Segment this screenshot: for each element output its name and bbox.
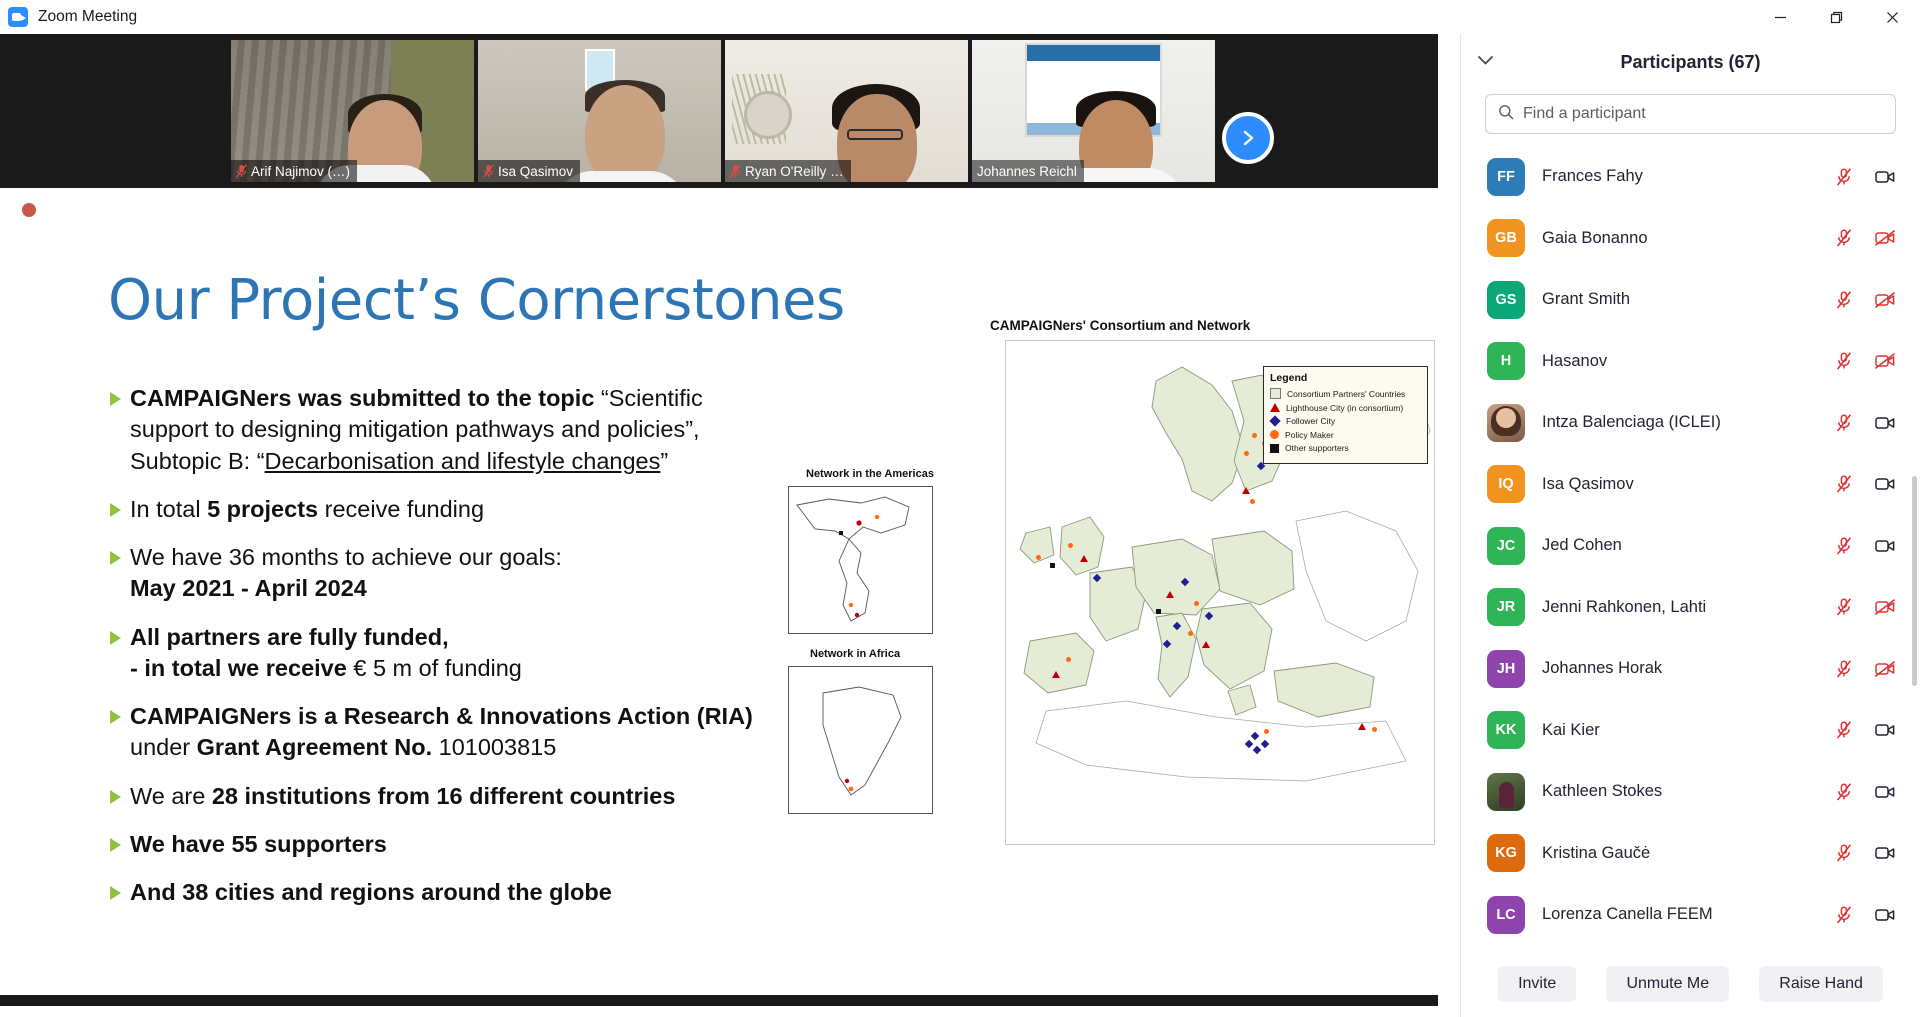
bullet-text: CAMPAIGNers is a Research & Innovations … [130,701,753,764]
list-item: In total 5 projects receive funding [110,494,770,525]
search-icon [1498,104,1514,125]
app-title: Zoom Meeting [38,8,137,26]
legend-triangle-icon [1270,403,1280,412]
participant-status-icons [1833,352,1896,370]
video-thumbnail-strip: Arif Najimov (…) Isa Qasimov [0,34,1438,188]
list-item: CAMPAIGNers was submitted to the topic “… [110,383,770,477]
participant-row[interactable]: GBGaia Bonanno [1461,208,1920,270]
participant-name: Intza Balenciaga (ICLEI) [1542,413,1816,432]
list-item: We are 28 institutions from 16 different… [110,781,770,812]
bullet-text: In total 5 projects receive funding [130,494,484,525]
video-tile-label: Ryan O'Reilly … [745,164,844,179]
bullet-marker-icon [110,503,121,517]
participant-name: Lorenza Canella FEEM [1542,905,1816,924]
avatar: H [1487,342,1525,380]
legend-label: Follower City [1286,416,1335,426]
list-item: All partners are fully funded,- in total… [110,622,770,685]
avatar: JR [1487,588,1525,626]
shared-screen-slide: Our Project’s Cornerstones CAMPAIGNers w… [0,188,1438,1006]
participant-list[interactable]: FFFrances FahyGBGaia BonannoGSGrant Smit… [1461,146,1920,950]
legend-item: Follower City [1270,416,1421,426]
participant-status-icons [1833,168,1896,186]
mic-muted-icon [1833,598,1855,616]
participant-status-icons [1833,598,1896,616]
participant-name: Frances Fahy [1542,167,1816,186]
participant-status-icons [1833,414,1896,432]
legend-label: Lighthouse City (in consortium) [1286,403,1403,413]
figure-title: CAMPAIGNers' Consortium and Network [990,318,1250,333]
mic-muted-icon [1833,660,1855,678]
video-on-icon [1874,475,1896,493]
consortium-map-figure: CAMPAIGNers' Consortium and Network Netw… [780,318,1420,848]
slide-title: Our Project’s Cornerstones [108,268,845,333]
mic-muted-icon [1833,721,1855,739]
zoom-meeting-window: Zoom Meeting [0,0,1920,1017]
submap-label-africa: Network in Africa [810,648,900,660]
participant-row[interactable]: IQIsa Qasimov [1461,454,1920,516]
unmute-me-button[interactable]: Unmute Me [1606,966,1729,1002]
video-tile-label: Isa Qasimov [498,164,573,179]
video-tile-label: Arif Najimov (…) [251,164,350,179]
participant-status-icons [1833,229,1896,247]
participant-name: Jenni Rahkonen, Lahti [1542,598,1816,617]
legend-diamond-icon [1269,415,1280,426]
participant-status-icons [1833,475,1896,493]
avatar: IQ [1487,465,1525,503]
map-marker-other-supporter [1156,609,1161,614]
avatar: FF [1487,158,1525,196]
mic-muted-icon [1833,906,1855,924]
participant-row[interactable]: FFFrances Fahy [1461,146,1920,208]
participants-panel-header: Participants (67) [1461,34,1920,90]
close-button[interactable] [1864,0,1920,34]
legend-label: Consortium Partners' Countries [1287,389,1405,399]
submap-label-americas: Network in the Americas [806,468,934,480]
participant-name: Kai Kier [1542,721,1816,740]
next-page-button[interactable] [1222,112,1274,164]
bullet-marker-icon [110,631,121,645]
list-item: We have 36 months to achieve our goals:M… [110,542,770,605]
video-tiles: Arif Najimov (…) Isa Qasimov [231,40,1215,182]
participant-row[interactable]: JCJed Cohen [1461,515,1920,577]
bullet-text: CAMPAIGNers was submitted to the topic “… [130,383,770,477]
participant-row[interactable]: KGKristina Gaučė [1461,823,1920,885]
participants-panel: Participants (67) FFFrances FahyGBGaia B… [1460,34,1920,1017]
video-off-icon [1874,660,1896,678]
participant-name: Isa Qasimov [1542,475,1816,494]
avatar: JH [1487,650,1525,688]
legend-label: Policy Maker [1285,430,1334,440]
map-marker-policy-maker [1066,657,1071,662]
bullet-marker-icon [110,790,121,804]
avatar: KK [1487,711,1525,749]
bullet-marker-icon [110,886,121,900]
legend-polygon-icon [1270,388,1281,399]
participant-status-icons [1833,721,1896,739]
invite-button[interactable]: Invite [1498,966,1576,1002]
mic-muted-icon [1833,291,1855,309]
video-tile-label: Johannes Reichl [977,164,1077,179]
participant-row[interactable]: Intza Balenciaga (ICLEI) [1461,392,1920,454]
avatar: LC [1487,896,1525,934]
avatar: JC [1487,527,1525,565]
legend-circle-icon [1270,430,1279,439]
video-on-icon [1874,906,1896,924]
minimize-button[interactable] [1752,0,1808,34]
map-marker-policy-maker [1188,631,1193,636]
avatar [1487,773,1525,811]
bullet-marker-icon [110,838,121,852]
map-marker-lighthouse-city [1080,555,1088,562]
video-off-icon [1874,598,1896,616]
legend-heading: Legend [1270,372,1421,384]
submap-africa [788,666,933,814]
slide-bullet-list: CAMPAIGNers was submitted to the topic “… [110,383,770,925]
map-marker-lighthouse-city [1202,641,1210,648]
participant-name: Gaia Bonanno [1542,229,1816,248]
bullet-marker-icon [110,551,121,565]
map-marker-policy-maker [1244,451,1249,456]
bullet-text: And 38 cities and regions around the glo… [130,877,612,908]
map-marker-policy-maker [1068,543,1073,548]
map-marker-lighthouse-city [1166,591,1174,598]
participant-row[interactable]: JRJenni Rahkonen, Lahti [1461,577,1920,639]
recording-indicator-icon [22,203,36,217]
participant-status-icons [1833,660,1896,678]
participants-title: Participants (67) [1461,52,1920,73]
video-tile-name-bar: Isa Qasimov [478,160,580,182]
map-marker-policy-maker [1194,601,1199,606]
map-marker-policy-maker [1250,499,1255,504]
avatar: GB [1487,219,1525,257]
legend-label: Other supporters [1285,443,1349,453]
legend-item: Other supporters [1270,443,1421,453]
mic-muted-icon [1833,352,1855,370]
map-marker-lighthouse-city [1052,671,1060,678]
video-off-icon [1874,352,1896,370]
mic-muted-icon [236,164,247,178]
mic-muted-icon [1833,475,1855,493]
zoom-camera-icon [8,7,28,27]
avatar: KG [1487,834,1525,872]
mic-muted-icon [1833,414,1855,432]
bullet-marker-icon [110,392,121,406]
list-item: We have 55 supporters [110,829,770,860]
video-tile-name-bar: Arif Najimov (…) [231,160,357,182]
legend-item: Consortium Partners' Countries [1270,388,1421,399]
map-marker-policy-maker [1264,729,1269,734]
map-legend: Legend Consortium Partners' Countries Li… [1263,366,1428,464]
participant-name: Jed Cohen [1542,536,1816,555]
mic-muted-icon [1833,229,1855,247]
mic-muted-icon [1833,537,1855,555]
participant-status-icons [1833,844,1896,862]
video-tile[interactable]: Ryan O'Reilly … [725,40,968,182]
search-input[interactable] [1523,105,1883,123]
video-on-icon [1874,783,1896,801]
map-marker-policy-maker [1036,555,1041,560]
participant-search-box[interactable] [1485,94,1896,134]
participant-status-icons [1833,783,1896,801]
video-tile-name-bar: Ryan O'Reilly … [725,160,851,182]
legend-item: Policy Maker [1270,430,1421,440]
avatar: GS [1487,281,1525,319]
mic-muted-icon [730,164,741,178]
video-on-icon [1874,537,1896,555]
avatar [1487,404,1525,442]
video-off-icon [1874,291,1896,309]
legend-square-icon [1270,444,1279,453]
map-marker-other-supporter [1050,563,1055,568]
participant-search-wrap [1461,90,1920,146]
participant-status-icons [1833,537,1896,555]
participant-row[interactable]: LCLorenza Canella FEEM [1461,884,1920,946]
mic-muted-icon [483,164,494,178]
video-tile[interactable]: Arif Najimov (…) [231,40,474,182]
mic-muted-icon [1833,168,1855,186]
map-marker-lighthouse-city [1242,487,1250,494]
participant-status-icons [1833,906,1896,924]
window-controls [1752,0,1920,34]
participant-row[interactable]: KKKai Kier [1461,700,1920,762]
europe-map: Legend Consortium Partners' Countries Li… [1005,340,1435,845]
bullet-text: We are 28 institutions from 16 different… [130,781,675,812]
participant-name: Johannes Horak [1542,659,1816,678]
list-item: And 38 cities and regions around the glo… [110,877,770,908]
chevron-down-icon[interactable] [1477,53,1494,71]
participant-row[interactable]: JHJohannes Horak [1461,638,1920,700]
participant-status-icons [1833,291,1896,309]
raise-hand-button[interactable]: Raise Hand [1759,966,1883,1002]
video-tile-name-bar: Johannes Reichl [972,160,1084,182]
map-marker-policy-maker [1372,727,1377,732]
map-marker-lighthouse-city [1358,723,1366,730]
legend-item: Lighthouse City (in consortium) [1270,403,1421,413]
participant-name: Hasanov [1542,352,1816,371]
participant-name: Kathleen Stokes [1542,782,1816,801]
bullet-text: We have 55 supporters [130,829,387,860]
video-on-icon [1874,844,1896,862]
video-on-icon [1874,168,1896,186]
video-tile[interactable]: Isa Qasimov [478,40,721,182]
submap-americas [788,486,933,634]
bullet-marker-icon [110,710,121,724]
participant-name: Kristina Gaučė [1542,844,1816,863]
video-off-icon [1874,229,1896,247]
participant-list-scrollbar[interactable] [1912,476,1917,686]
participants-panel-footer: Invite Unmute Me Raise Hand [1461,950,1920,1017]
title-bar: Zoom Meeting [0,0,1920,34]
map-marker-policy-maker [1252,433,1257,438]
bullet-text: All partners are fully funded,- in total… [130,622,522,685]
participant-name: Grant Smith [1542,290,1816,309]
mic-muted-icon [1833,783,1855,801]
participant-row[interactable]: GSGrant Smith [1461,269,1920,331]
slide-bottom-bar [0,995,1438,1006]
bullet-text: We have 36 months to achieve our goals:M… [130,542,562,605]
restore-button[interactable] [1808,0,1864,34]
video-tile-active-speaker[interactable]: Johannes Reichl [972,40,1215,182]
list-item: CAMPAIGNers is a Research & Innovations … [110,701,770,764]
video-on-icon [1874,721,1896,739]
video-on-icon [1874,414,1896,432]
mic-muted-icon [1833,844,1855,862]
participant-row[interactable]: HHasanov [1461,331,1920,393]
participant-row[interactable]: Kathleen Stokes [1461,761,1920,823]
